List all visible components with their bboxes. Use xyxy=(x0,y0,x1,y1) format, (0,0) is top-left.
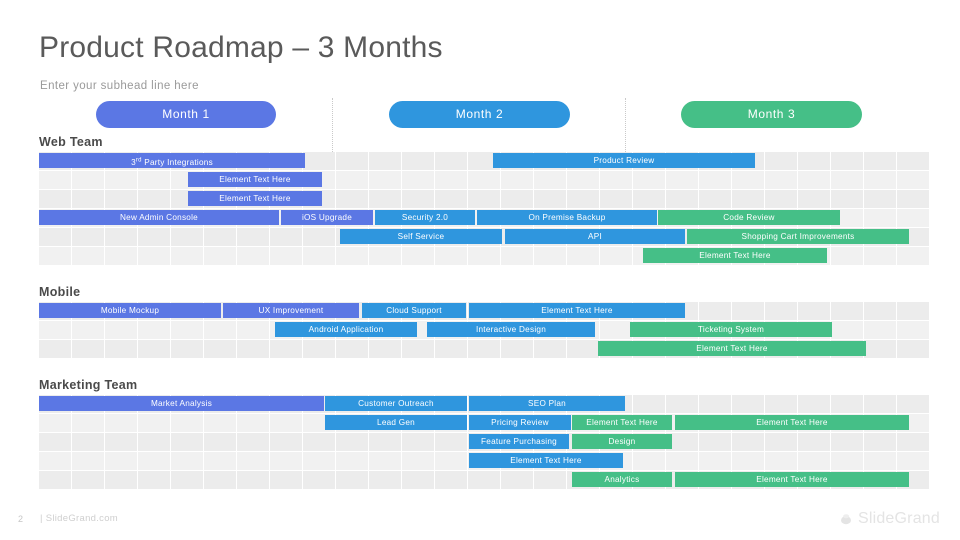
grid-cell xyxy=(501,247,533,265)
grid-cell xyxy=(369,340,401,358)
grid-cell xyxy=(765,302,797,320)
grid-cell xyxy=(666,171,698,189)
grid-cell xyxy=(204,433,236,451)
grid-cell xyxy=(633,190,665,208)
grid-cell xyxy=(831,302,863,320)
grid-cell xyxy=(732,452,764,470)
section-title-1: Mobile xyxy=(39,285,80,299)
grid-cell xyxy=(237,471,269,489)
grid-cell xyxy=(138,190,170,208)
grid-cell xyxy=(765,171,797,189)
grid-row xyxy=(39,171,920,189)
grid-cell xyxy=(270,471,302,489)
grid-cell xyxy=(72,321,104,339)
grid-cell xyxy=(72,171,104,189)
grid-cell xyxy=(138,471,170,489)
grid-cell xyxy=(897,302,929,320)
grid-cell xyxy=(798,171,830,189)
grid-cell xyxy=(303,433,335,451)
grid-cell xyxy=(105,433,137,451)
grid-cell xyxy=(897,433,929,451)
grid-cell xyxy=(732,395,764,413)
grid-cell xyxy=(72,228,104,246)
grid-cell xyxy=(864,171,896,189)
grid-cell xyxy=(666,395,698,413)
grid-cell xyxy=(468,247,500,265)
grid-cell xyxy=(369,452,401,470)
grid-cell xyxy=(666,452,698,470)
grid-cell xyxy=(237,414,269,432)
grid-cell xyxy=(303,340,335,358)
grid-cell xyxy=(336,247,368,265)
task-bar[interactable]: Shopping Cart Improvements xyxy=(687,229,909,244)
task-bar[interactable]: SEO Plan xyxy=(469,396,625,411)
task-bar[interactable]: 3rd Party Integrations xyxy=(39,153,305,168)
grid-cell xyxy=(732,433,764,451)
grid-cell xyxy=(270,433,302,451)
grid-cell xyxy=(72,414,104,432)
grid-cell xyxy=(831,152,863,170)
grid-cell xyxy=(171,471,203,489)
task-bar[interactable]: New Admin Console xyxy=(39,210,279,225)
page-title: Product Roadmap – 3 Months xyxy=(39,31,443,65)
month-pill-1[interactable]: Month 1 xyxy=(96,101,276,128)
grid-cell xyxy=(336,452,368,470)
grid-cell xyxy=(435,190,467,208)
grid-cell xyxy=(303,471,335,489)
grid-cell xyxy=(732,171,764,189)
task-bar[interactable]: Element Text Here xyxy=(188,172,322,187)
grid-cell xyxy=(39,452,71,470)
grid-cell xyxy=(39,321,71,339)
grid-cell xyxy=(699,302,731,320)
grid-cell xyxy=(732,190,764,208)
grid-cell xyxy=(303,152,335,170)
grid-cell xyxy=(270,228,302,246)
task-bar[interactable]: Android Application xyxy=(275,322,417,337)
grid-cell xyxy=(468,171,500,189)
grid-cell xyxy=(138,340,170,358)
grid-cell xyxy=(105,321,137,339)
grid-cell xyxy=(336,171,368,189)
grid-cell xyxy=(831,452,863,470)
grid-cell xyxy=(39,190,71,208)
grid-cell xyxy=(864,340,896,358)
grid-cell xyxy=(699,190,731,208)
grid-cell xyxy=(600,247,632,265)
grid-row xyxy=(39,190,920,208)
grid-cell xyxy=(831,190,863,208)
grid-cell xyxy=(105,471,137,489)
grid-cell xyxy=(171,228,203,246)
grid-cell xyxy=(897,340,929,358)
task-bar[interactable]: Interactive Design xyxy=(427,322,595,337)
grid-cell xyxy=(864,321,896,339)
grid-cell xyxy=(402,340,434,358)
grid-cell xyxy=(369,471,401,489)
grid-cell xyxy=(105,414,137,432)
grid-cell xyxy=(336,190,368,208)
task-bar[interactable]: Product Review xyxy=(493,153,755,168)
task-bar[interactable]: On Premise Backup xyxy=(477,210,657,225)
grid-cell xyxy=(501,171,533,189)
task-bar[interactable]: Market Analysis xyxy=(39,396,324,411)
task-bar[interactable]: Cloud Support xyxy=(362,303,466,318)
grid-cell xyxy=(270,414,302,432)
grid-cell xyxy=(831,171,863,189)
grid-cell xyxy=(138,321,170,339)
task-bar[interactable]: Code Review xyxy=(658,210,840,225)
task-bar[interactable]: Ticketing System xyxy=(630,322,832,337)
grid-cell xyxy=(897,152,929,170)
grid-cell xyxy=(534,171,566,189)
grid-cell xyxy=(798,152,830,170)
grid-cell xyxy=(468,190,500,208)
grid-cell xyxy=(171,452,203,470)
grid-cell xyxy=(435,152,467,170)
grid-cell xyxy=(798,433,830,451)
grid-cell xyxy=(435,247,467,265)
grid-cell xyxy=(204,321,236,339)
grid-cell xyxy=(171,247,203,265)
grid-cell xyxy=(39,247,71,265)
grid-cell xyxy=(468,471,500,489)
grid-cell xyxy=(303,247,335,265)
grid-cell xyxy=(402,171,434,189)
grid-cell xyxy=(864,190,896,208)
grid-cell xyxy=(732,302,764,320)
grid-cell xyxy=(39,433,71,451)
grid-cell xyxy=(237,247,269,265)
grid-cell xyxy=(633,171,665,189)
grid-cell xyxy=(138,171,170,189)
grid-cell xyxy=(534,247,566,265)
grid-cell xyxy=(666,190,698,208)
grid-cell xyxy=(897,321,929,339)
month-pill-2[interactable]: Month 2 xyxy=(389,101,570,128)
task-bar[interactable]: Feature Purchasing xyxy=(469,434,569,449)
grid-cell xyxy=(600,190,632,208)
task-bar[interactable]: API xyxy=(505,229,685,244)
grid-cell xyxy=(171,433,203,451)
grid-cell xyxy=(237,433,269,451)
grid-cell xyxy=(204,228,236,246)
task-bar[interactable]: Analytics xyxy=(572,472,672,487)
grid-cell xyxy=(138,228,170,246)
task-bar[interactable]: Mobile Mockup xyxy=(39,303,221,318)
grid-cell xyxy=(864,209,896,227)
grid-cell xyxy=(798,190,830,208)
grid-cell xyxy=(831,247,863,265)
grid-cell xyxy=(435,171,467,189)
grid-cell xyxy=(699,452,731,470)
grid-cell xyxy=(633,452,665,470)
grid-cell xyxy=(72,247,104,265)
grid-cell xyxy=(204,247,236,265)
grid-cell xyxy=(138,452,170,470)
grid-cell xyxy=(237,452,269,470)
grid-cell xyxy=(138,433,170,451)
grid-cell xyxy=(501,471,533,489)
grid-cell xyxy=(369,171,401,189)
grid-cell xyxy=(567,340,599,358)
grid-cell xyxy=(435,433,467,451)
grid-cell xyxy=(567,190,599,208)
grid-cell xyxy=(699,395,731,413)
grid-cell xyxy=(171,340,203,358)
grid-cell xyxy=(72,452,104,470)
grid-cell xyxy=(435,471,467,489)
grid-cell xyxy=(831,433,863,451)
grid-cell xyxy=(864,433,896,451)
grid-cell xyxy=(600,321,632,339)
grid-cell xyxy=(171,321,203,339)
grid-cell xyxy=(534,190,566,208)
grid-cell xyxy=(402,452,434,470)
task-bar-label: 3rd Party Integrations xyxy=(131,158,213,167)
grid-cell xyxy=(534,340,566,358)
grid-cell xyxy=(831,321,863,339)
grid-cell xyxy=(435,452,467,470)
task-bar[interactable]: Security 2.0 xyxy=(375,210,475,225)
grid-cell xyxy=(105,452,137,470)
grid-cell xyxy=(237,321,269,339)
task-bar[interactable]: Element Text Here xyxy=(675,415,909,430)
grid-cell xyxy=(171,414,203,432)
grid-cell xyxy=(39,171,71,189)
grid-cell xyxy=(204,414,236,432)
grid-cell xyxy=(369,247,401,265)
grid-cell xyxy=(303,228,335,246)
grid-cell xyxy=(633,395,665,413)
grid-cell xyxy=(39,340,71,358)
grid-cell xyxy=(699,433,731,451)
grid-cell xyxy=(105,340,137,358)
slidegrand-logo: SlideGrand xyxy=(838,510,940,528)
task-bar[interactable]: Customer Outreach xyxy=(325,396,467,411)
section-title-2: Marketing Team xyxy=(39,378,137,392)
grid-cell xyxy=(765,395,797,413)
grid-cell xyxy=(897,395,929,413)
grid-cell xyxy=(369,433,401,451)
grid-cell xyxy=(138,247,170,265)
task-bar[interactable]: Element Text Here xyxy=(469,303,685,318)
grid-cell xyxy=(765,190,797,208)
grid-cell xyxy=(897,190,929,208)
task-bar[interactable]: Element Text Here xyxy=(188,191,322,206)
task-bar[interactable]: Element Text Here xyxy=(598,341,866,356)
grid-cell xyxy=(138,414,170,432)
grid-cell xyxy=(237,228,269,246)
task-bar[interactable]: Pricing Review xyxy=(469,415,571,430)
grid-cell xyxy=(699,171,731,189)
grid-cell xyxy=(336,433,368,451)
grid-cell xyxy=(402,247,434,265)
grid-cell xyxy=(765,452,797,470)
grid-cell xyxy=(72,340,104,358)
grid-cell xyxy=(39,228,71,246)
grid-cell xyxy=(72,190,104,208)
subhead-text: Enter your subhead line here xyxy=(40,80,199,92)
task-bar[interactable]: Element Text Here xyxy=(469,453,623,468)
grid-cell xyxy=(864,395,896,413)
grid-cell xyxy=(270,247,302,265)
grid-cell xyxy=(204,452,236,470)
footer-logo-text: SlideGrand xyxy=(858,510,940,528)
task-bar[interactable]: Design xyxy=(572,434,672,449)
grid-cell xyxy=(798,452,830,470)
grid-cell xyxy=(270,452,302,470)
grid-cell xyxy=(39,471,71,489)
grid-cell xyxy=(831,395,863,413)
grid-cell xyxy=(105,171,137,189)
grid-cell xyxy=(105,228,137,246)
section-title-0: Web Team xyxy=(39,135,103,149)
task-bar[interactable]: Element Text Here xyxy=(675,472,909,487)
grid-cell xyxy=(897,209,929,227)
grid-cell xyxy=(270,340,302,358)
footer-page-number: 2 xyxy=(18,514,23,524)
grid-cell xyxy=(534,471,566,489)
grid-cell xyxy=(39,414,71,432)
grid-cell xyxy=(105,190,137,208)
grid-cell xyxy=(336,340,368,358)
grid-cell xyxy=(864,152,896,170)
grid-cell xyxy=(402,152,434,170)
grid-cell xyxy=(765,433,797,451)
task-bar[interactable]: Lead Gen xyxy=(325,415,467,430)
grid-cell xyxy=(369,190,401,208)
task-bar[interactable]: Element Text Here xyxy=(572,415,672,430)
grid-cell xyxy=(72,471,104,489)
footer-brand-text: | SlideGrand.com xyxy=(40,513,118,524)
task-bar[interactable]: Element Text Here xyxy=(643,248,827,263)
grid-cell xyxy=(435,340,467,358)
grid-cell xyxy=(864,247,896,265)
grid-cell xyxy=(765,152,797,170)
grid-cell xyxy=(402,471,434,489)
grid-cell xyxy=(897,171,929,189)
grid-cell xyxy=(402,190,434,208)
grid-cell xyxy=(567,247,599,265)
grid-cell xyxy=(303,452,335,470)
grid-cell xyxy=(204,471,236,489)
month-pill-3[interactable]: Month 3 xyxy=(681,101,862,128)
grid-cell xyxy=(204,340,236,358)
grid-cell xyxy=(336,471,368,489)
task-bar[interactable]: iOS Upgrade xyxy=(281,210,373,225)
grid-cell xyxy=(567,171,599,189)
grid-cell xyxy=(402,433,434,451)
grid-cell xyxy=(468,340,500,358)
grid-cell xyxy=(897,452,929,470)
grid-cell xyxy=(501,340,533,358)
grid-cell xyxy=(369,152,401,170)
grid-cell xyxy=(798,302,830,320)
grid-cell xyxy=(501,190,533,208)
grid-cell xyxy=(864,452,896,470)
grid-cell xyxy=(336,152,368,170)
task-bar[interactable]: UX Improvement xyxy=(223,303,359,318)
grid-cell xyxy=(864,302,896,320)
grid-cell xyxy=(897,247,929,265)
task-bar[interactable]: Self Service xyxy=(340,229,502,244)
slidegrand-mark-icon xyxy=(838,511,854,527)
grid-cell xyxy=(600,171,632,189)
grid-cell xyxy=(237,340,269,358)
grid-cell xyxy=(72,433,104,451)
grid-cell xyxy=(798,395,830,413)
grid-cell xyxy=(105,247,137,265)
